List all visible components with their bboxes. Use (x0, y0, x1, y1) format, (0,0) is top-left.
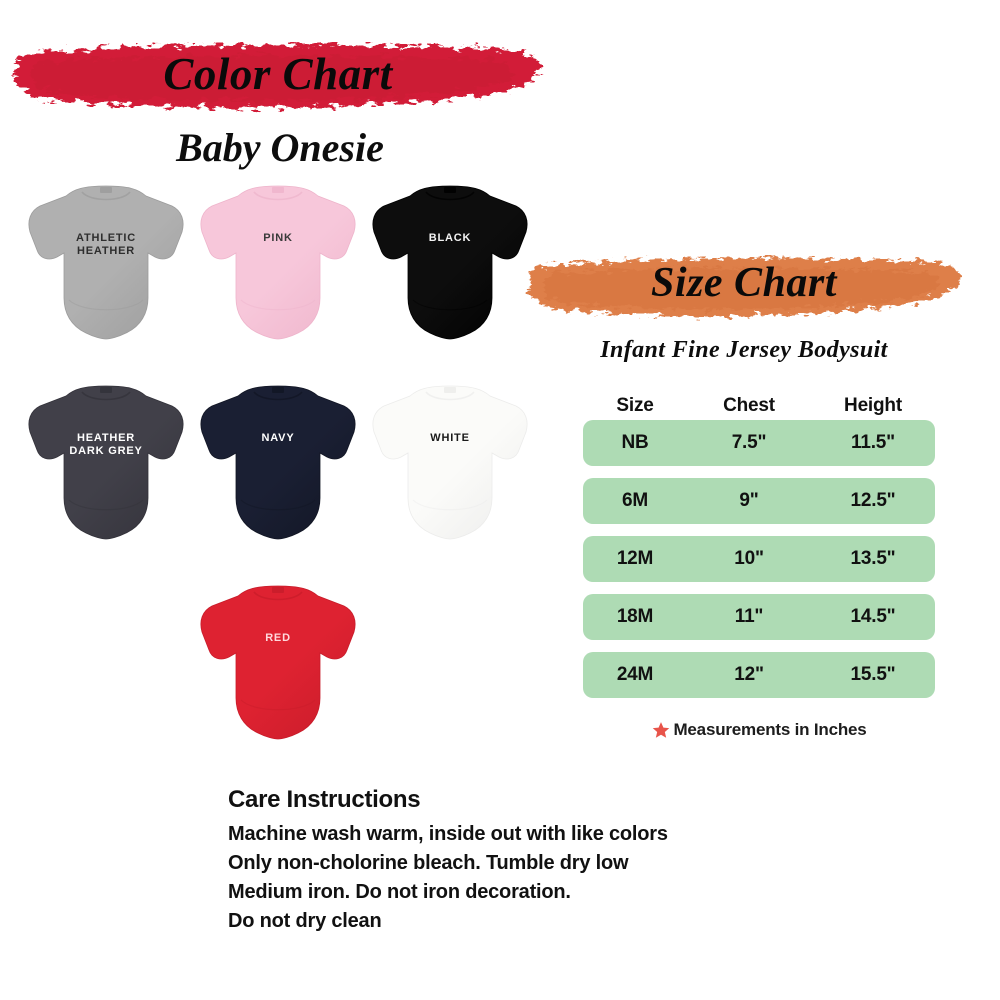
care-instructions-title: Care Instructions (228, 786, 828, 814)
cell-size: 18M (583, 606, 687, 628)
column-header-height: Height (811, 395, 935, 417)
cell-height: 11.5" (811, 432, 935, 454)
onesie-swatch-pink[interactable]: PINK (194, 180, 362, 355)
column-header-size: Size (583, 395, 687, 417)
care-instructions-block: Care Instructions Machine wash warm, ins… (228, 786, 828, 936)
cell-size: NB (583, 432, 687, 454)
onesie-illustration (366, 380, 534, 555)
cell-chest: 7.5" (687, 432, 811, 454)
onesie-swatch-heather-dark-grey[interactable]: HEATHER DARK GREY (22, 380, 190, 555)
column-header-chest: Chest (687, 395, 811, 417)
color-chart-title: Color Chart (8, 48, 548, 100)
size-chart-table: Size Chest Height NB7.5"11.5"6M9"12.5"12… (583, 392, 935, 710)
table-row: 12M10"13.5" (583, 536, 935, 582)
size-chart-title: Size Chart (523, 259, 965, 307)
onesie-illustration (194, 180, 362, 355)
onesie-swatch-athletic-heather[interactable]: ATHLETIC HEATHER (22, 180, 190, 355)
care-instruction-line: Machine wash warm, inside out with like … (228, 820, 828, 849)
onesie-swatch-black[interactable]: BLACK (366, 180, 534, 355)
onesie-swatch-navy[interactable]: NAVY (194, 380, 362, 555)
color-chart-banner: Color Chart (8, 42, 548, 114)
care-instruction-line: Medium iron. Do not iron decoration. (228, 878, 828, 907)
cell-size: 6M (583, 490, 687, 512)
onesie-color-grid: ATHLETIC HEATHERPINKBLACKHEATHER DARK GR… (18, 180, 538, 770)
onesie-illustration (366, 180, 534, 355)
onesie-illustration (194, 580, 362, 755)
onesie-swatch-white[interactable]: WHITE (366, 380, 534, 555)
measurements-note-text: Measurements in Inches (673, 720, 866, 740)
cell-size: 12M (583, 548, 687, 570)
care-instruction-line: Do not dry clean (228, 907, 828, 936)
table-row: NB7.5"11.5" (583, 420, 935, 466)
table-row: 6M9"12.5" (583, 478, 935, 524)
measurements-note: Measurements in Inches (583, 720, 935, 740)
baby-onesie-subtitle: Baby Onesie (0, 124, 560, 171)
cell-height: 12.5" (811, 490, 935, 512)
size-chart-banner: Size Chart (523, 255, 965, 321)
star-icon (651, 720, 671, 740)
cell-chest: 12" (687, 664, 811, 686)
cell-height: 14.5" (811, 606, 935, 628)
cell-height: 15.5" (811, 664, 935, 686)
jersey-bodysuit-subtitle: Infant Fine Jersey Bodysuit (523, 337, 965, 364)
table-header-row: Size Chest Height (583, 392, 935, 420)
care-instruction-line: Only non-cholorine bleach. Tumble dry lo… (228, 849, 828, 878)
onesie-swatch-red[interactable]: RED (194, 580, 362, 755)
cell-chest: 10" (687, 548, 811, 570)
table-row: 18M11"14.5" (583, 594, 935, 640)
onesie-illustration (22, 380, 190, 555)
cell-chest: 9" (687, 490, 811, 512)
onesie-illustration (194, 380, 362, 555)
cell-height: 13.5" (811, 548, 935, 570)
table-row: 24M12"15.5" (583, 652, 935, 698)
cell-chest: 11" (687, 606, 811, 628)
onesie-illustration (22, 180, 190, 355)
cell-size: 24M (583, 664, 687, 686)
